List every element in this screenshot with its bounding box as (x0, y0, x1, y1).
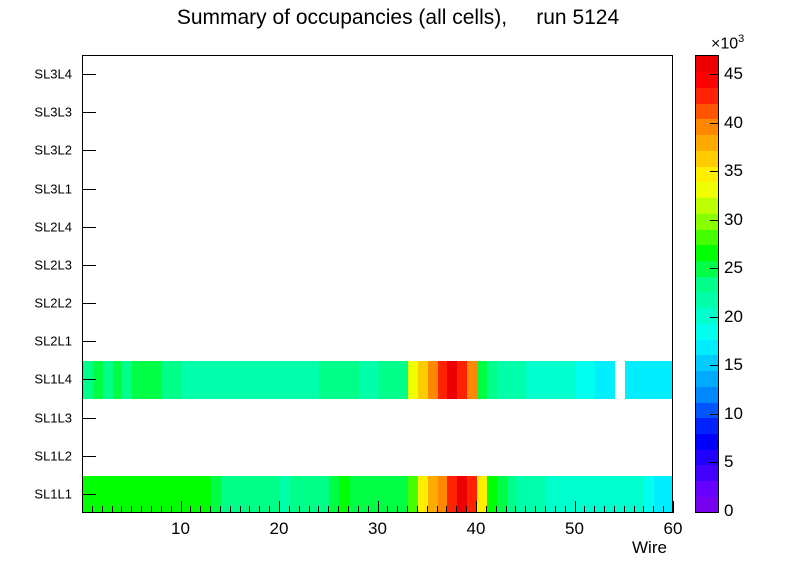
heatmap-cell (103, 361, 113, 399)
x-axis-major-tick-top (476, 55, 477, 67)
x-axis-minor-tick (151, 506, 152, 513)
palette-band (696, 481, 718, 497)
x-axis-major-tick (476, 501, 477, 513)
x-axis-minor-tick (259, 506, 260, 513)
x-axis-minor-tick (299, 506, 300, 513)
palette-tick (710, 123, 719, 124)
palette-tick (710, 365, 719, 366)
heatmap-cell (664, 361, 673, 399)
x-axis-minor-tick-top (309, 55, 310, 62)
palette-band (696, 465, 718, 481)
x-axis-minor-tick-top (348, 55, 349, 62)
palette-band (696, 402, 718, 418)
heatmap-cell (319, 361, 329, 399)
x-axis-minor-tick (614, 506, 615, 513)
x-axis-minor-tick-top (643, 55, 644, 62)
x-axis-minor-tick-top (328, 55, 329, 62)
x-axis-minor-tick-top (131, 55, 132, 62)
palette-exponent-label: ×103 (711, 33, 744, 53)
x-axis-minor-tick (161, 506, 162, 513)
y-axis-tick (82, 379, 96, 380)
x-axis-minor-tick (643, 506, 644, 513)
y-axis-tick (82, 74, 96, 75)
y-axis-tick-label: SL1L3 (0, 410, 72, 425)
palette-band (696, 56, 718, 72)
x-axis-minor-tick-top (634, 55, 635, 62)
x-axis-tick-label: 50 (565, 519, 584, 539)
heatmap-cell (546, 361, 556, 399)
palette-band (696, 433, 718, 449)
x-axis-minor-tick-top (446, 55, 447, 62)
y-axis-tick-label: SL2L2 (0, 296, 72, 311)
x-axis-tick-label: 60 (664, 519, 683, 539)
x-axis-minor-tick (594, 506, 595, 513)
x-axis-minor-tick (92, 506, 93, 513)
palette-tick-label: 45 (724, 64, 743, 84)
x-axis-minor-tick (141, 506, 142, 513)
x-axis-minor-tick (249, 506, 250, 513)
x-axis-minor-tick-top (368, 55, 369, 62)
y-axis-tick-label: SL3L1 (0, 181, 72, 196)
x-axis-minor-tick-top (397, 55, 398, 62)
palette-band (696, 119, 718, 135)
heatmap-cell (250, 361, 260, 399)
x-axis-major-tick (181, 501, 182, 513)
palette-tick-label: 15 (724, 355, 743, 375)
palette-band (696, 213, 718, 229)
root-canvas: Summary of occupancies (all cells), run … (0, 0, 796, 572)
x-axis-minor-tick-top (525, 55, 526, 62)
palette-band (696, 308, 718, 324)
heatmap-cell (172, 361, 182, 399)
x-axis-minor-tick (171, 506, 172, 513)
x-axis-minor-tick (131, 506, 132, 513)
x-axis-minor-tick (289, 506, 290, 513)
heatmap-cell (664, 476, 673, 513)
y-axis-tick (82, 227, 96, 228)
x-axis-minor-tick-top (289, 55, 290, 62)
x-axis-minor-tick (102, 506, 103, 513)
palette-tick (710, 462, 719, 463)
x-axis-minor-tick-top (141, 55, 142, 62)
palette-tick (710, 414, 719, 415)
x-axis-minor-tick-top (387, 55, 388, 62)
x-axis-minor-tick-top (161, 55, 162, 62)
x-axis-minor-tick-top (121, 55, 122, 62)
x-axis-major-tick-top (673, 55, 674, 67)
y-axis-tick (82, 418, 96, 419)
palette-tick-label: 30 (724, 210, 743, 230)
x-axis-minor-tick-top (92, 55, 93, 62)
x-axis-major-tick (378, 501, 379, 513)
y-axis-tick-label: SL1L2 (0, 448, 72, 463)
x-axis-minor-tick (318, 506, 319, 513)
heatmap-cell (467, 361, 477, 399)
x-axis-minor-tick (407, 506, 408, 513)
palette-band (696, 355, 718, 371)
x-axis-minor-tick-top (594, 55, 595, 62)
x-axis-minor-tick-top (240, 55, 241, 62)
heatmap-cell (369, 361, 379, 399)
palette-tick (710, 171, 719, 172)
x-axis-minor-tick (515, 506, 516, 513)
palette-tick-label: 0 (724, 501, 733, 521)
heatmap-cell (497, 361, 507, 399)
x-axis-minor-tick (190, 506, 191, 513)
x-axis-minor-tick-top (210, 55, 211, 62)
x-axis-minor-tick (653, 506, 654, 513)
y-axis-tick-label: SL1L4 (0, 372, 72, 387)
x-axis-minor-tick (525, 506, 526, 513)
palette-exponent-power: 3 (738, 33, 744, 45)
palette-band (696, 339, 718, 355)
x-axis-minor-tick (121, 506, 122, 513)
x-axis-minor-tick (584, 506, 585, 513)
palette-band (696, 87, 718, 103)
palette-band (696, 496, 718, 512)
x-axis-minor-tick-top (604, 55, 605, 62)
heatmap-cell (349, 361, 359, 399)
x-axis-minor-tick-top (456, 55, 457, 62)
x-axis-minor-tick-top (437, 55, 438, 62)
x-axis-minor-tick (210, 506, 211, 513)
y-axis-tick (82, 150, 96, 151)
page-title: Summary of occupancies (all cells), run … (0, 6, 796, 30)
x-axis-minor-tick-top (338, 55, 339, 62)
y-axis-tick (82, 303, 96, 304)
palette-band (696, 103, 718, 119)
palette-band (696, 166, 718, 182)
y-axis-tick (82, 112, 96, 113)
palette-band (696, 276, 718, 292)
x-axis-tick-label: 10 (171, 519, 190, 539)
palette-tick-label: 10 (724, 404, 743, 424)
heatmap-cells (83, 56, 672, 512)
x-axis-minor-tick (624, 506, 625, 513)
y-axis-tick (82, 456, 96, 457)
x-axis-minor-tick-top (230, 55, 231, 62)
heatmap-cell (201, 361, 211, 399)
palette-band (696, 292, 718, 308)
palette-tick-label: 25 (724, 258, 743, 278)
y-axis-tick (82, 494, 96, 495)
x-axis-minor-tick (506, 506, 507, 513)
x-axis-tick-label: 40 (467, 519, 486, 539)
x-axis-minor-tick-top (407, 55, 408, 62)
palette-tick (710, 220, 719, 221)
x-axis-major-tick (673, 501, 674, 513)
x-axis-minor-tick-top (358, 55, 359, 62)
x-axis-minor-tick (240, 506, 241, 513)
x-axis-minor-tick-top (624, 55, 625, 62)
heatmap-cell (221, 361, 231, 399)
palette-tick (710, 268, 719, 269)
y-axis-tick-label: SL2L4 (0, 219, 72, 234)
x-axis-minor-tick-top (545, 55, 546, 62)
x-axis-minor-tick (309, 506, 310, 513)
x-axis-minor-tick-top (555, 55, 556, 62)
y-axis-tick-label: SL2L1 (0, 334, 72, 349)
x-axis-minor-tick (328, 506, 329, 513)
x-axis-major-tick-top (378, 55, 379, 67)
x-axis-minor-tick (466, 506, 467, 513)
x-axis-minor-tick-top (614, 55, 615, 62)
heatmap-cell (595, 361, 605, 399)
heatmap-cell (418, 361, 428, 399)
y-axis-tick-label: SL1L1 (0, 486, 72, 501)
x-axis-minor-tick (417, 506, 418, 513)
x-axis-minor-tick (368, 506, 369, 513)
palette-band (696, 135, 718, 151)
x-axis-minor-tick (437, 506, 438, 513)
x-axis-minor-tick (427, 506, 428, 513)
x-axis-minor-tick-top (269, 55, 270, 62)
x-axis-minor-tick (456, 506, 457, 513)
palette-band (696, 182, 718, 198)
y-axis-tick (82, 265, 96, 266)
heatmap-cell (516, 361, 526, 399)
palette-tick-label: 20 (724, 307, 743, 327)
palette-band (696, 245, 718, 261)
x-axis-tick-label: 30 (368, 519, 387, 539)
x-axis-minor-tick (387, 506, 388, 513)
palette-band (696, 198, 718, 214)
x-axis-minor-tick-top (151, 55, 152, 62)
heatmap-cell (270, 361, 280, 399)
x-axis-minor-tick-top (190, 55, 191, 62)
plot-frame (82, 55, 673, 513)
heatmap-cell (398, 361, 408, 399)
palette-band (696, 418, 718, 434)
palette-band (696, 229, 718, 245)
heatmap-cell (152, 361, 162, 399)
x-axis-minor-tick-top (486, 55, 487, 62)
x-axis-minor-tick (604, 506, 605, 513)
x-axis-minor-tick-top (249, 55, 250, 62)
x-axis-minor-tick (496, 506, 497, 513)
x-axis-minor-tick (338, 506, 339, 513)
y-axis-tick-label: SL3L4 (0, 67, 72, 82)
y-axis-tick-label: SL2L3 (0, 257, 72, 272)
palette-tick-label: 5 (724, 452, 733, 472)
x-axis-minor-tick-top (466, 55, 467, 62)
x-axis-minor-tick-top (417, 55, 418, 62)
x-axis-minor-tick-top (427, 55, 428, 62)
x-axis-minor-tick-top (565, 55, 566, 62)
x-axis-minor-tick (200, 506, 201, 513)
x-axis-minor-tick-top (515, 55, 516, 62)
x-axis-major-tick-top (181, 55, 182, 67)
heatmap-cell (447, 361, 457, 399)
heatmap-cell (122, 361, 132, 399)
x-axis-minor-tick (220, 506, 221, 513)
heatmap-cell (566, 361, 576, 399)
x-axis-minor-tick (545, 506, 546, 513)
heatmap-cell (644, 361, 654, 399)
x-axis-minor-tick-top (584, 55, 585, 62)
x-axis-minor-tick (348, 506, 349, 513)
x-axis-minor-tick (535, 506, 536, 513)
y-axis-tick-label: SL3L3 (0, 105, 72, 120)
x-axis-minor-tick-top (259, 55, 260, 62)
x-axis-tick-label: 20 (270, 519, 289, 539)
palette-tick-label: 35 (724, 161, 743, 181)
x-axis-minor-tick (634, 506, 635, 513)
x-axis-minor-tick-top (535, 55, 536, 62)
x-axis-minor-tick (397, 506, 398, 513)
palette-tick (710, 317, 719, 318)
heatmap-cell (605, 361, 615, 399)
heatmap-cell (300, 361, 310, 399)
x-axis-minor-tick-top (653, 55, 654, 62)
x-axis-minor-tick (269, 506, 270, 513)
x-axis-minor-tick (446, 506, 447, 513)
x-axis-minor-tick-top (112, 55, 113, 62)
palette-tick-label: 40 (724, 113, 743, 133)
y-axis-tick (82, 189, 96, 190)
x-axis-minor-tick-top (102, 55, 103, 62)
x-axis-major-tick-top (575, 55, 576, 67)
x-axis-major-tick-top (279, 55, 280, 67)
x-axis-minor-tick (555, 506, 556, 513)
x-axis-minor-tick (565, 506, 566, 513)
x-axis-major-tick (575, 501, 576, 513)
y-axis-tick (82, 341, 96, 342)
x-axis-minor-tick-top (318, 55, 319, 62)
x-axis-minor-tick-top (299, 55, 300, 62)
x-axis-minor-tick (112, 506, 113, 513)
x-axis-major-tick (279, 501, 280, 513)
x-axis-title: Wire (632, 538, 667, 558)
x-axis-minor-tick (230, 506, 231, 513)
x-axis-minor-tick-top (506, 55, 507, 62)
palette-band (696, 150, 718, 166)
x-axis-minor-tick (486, 506, 487, 513)
x-axis-minor-tick-top (496, 55, 497, 62)
x-axis-minor-tick-top (200, 55, 201, 62)
palette-band (696, 386, 718, 402)
y-axis-tick-label: SL3L2 (0, 143, 72, 158)
x-axis-minor-tick-top (171, 55, 172, 62)
palette-tick (710, 74, 719, 75)
palette-band (696, 370, 718, 386)
palette-band (696, 323, 718, 339)
x-axis-minor-tick (663, 506, 664, 513)
palette-exponent-base: ×10 (711, 35, 738, 52)
x-axis-minor-tick-top (663, 55, 664, 62)
x-axis-minor-tick (358, 506, 359, 513)
x-axis-minor-tick-top (220, 55, 221, 62)
